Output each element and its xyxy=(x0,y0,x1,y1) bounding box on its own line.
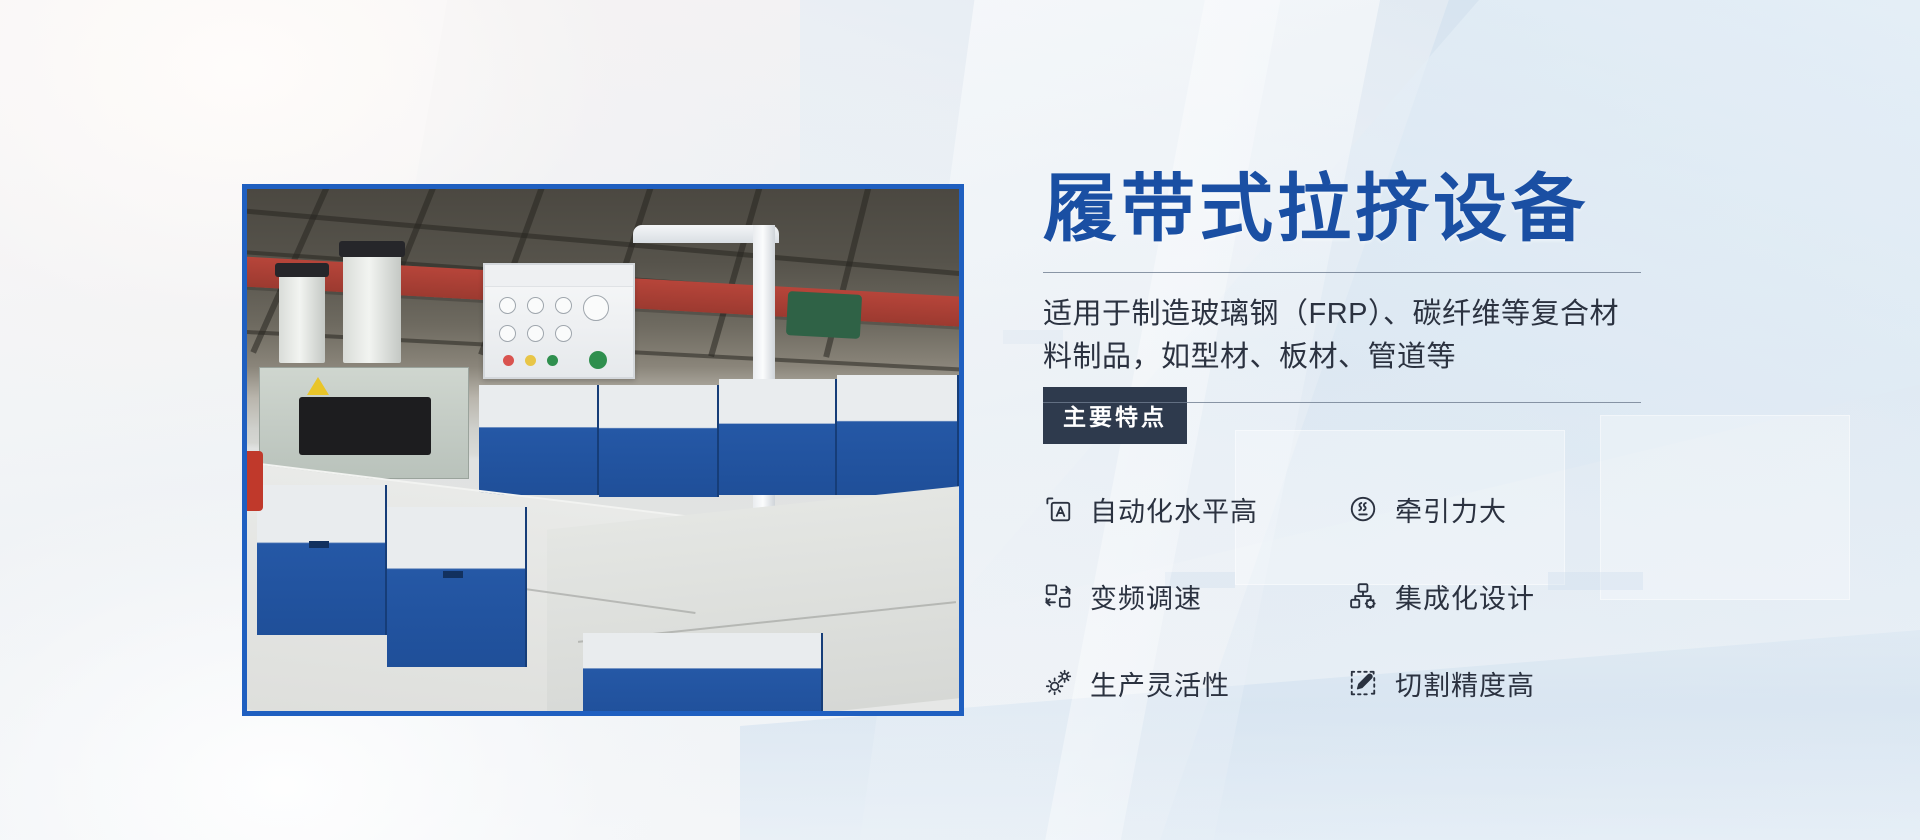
photo-cabinet-handle xyxy=(309,541,329,548)
photo-cabinet-handle xyxy=(443,571,463,578)
feature-label: 自动化水平高 xyxy=(1090,490,1258,529)
product-photo-image xyxy=(247,189,959,711)
photo-gauge xyxy=(555,325,572,342)
photo-gauge xyxy=(499,325,516,342)
divider-bottom xyxy=(1043,402,1641,403)
feature-list: 自动化水平高 牵引力大 xyxy=(1043,490,1663,703)
cut-precision-icon xyxy=(1348,668,1378,698)
feature-item-flexibility[interactable]: 生产灵活性 xyxy=(1043,664,1348,703)
photo-machine-window xyxy=(299,397,431,455)
product-description: 适用于制造玻璃钢（FRP）、碳纤维等复合材料制品，如型材、板材、管道等 xyxy=(1043,293,1643,380)
photo-fire-extinguisher xyxy=(243,451,263,511)
photo-indicator-lamp xyxy=(547,355,558,366)
feature-label: 变频调速 xyxy=(1090,577,1202,616)
photo-indicator-lamp xyxy=(503,355,514,366)
traction-icon xyxy=(1348,494,1378,524)
photo-indicator-lamp xyxy=(525,355,536,366)
product-banner: 履带式拉挤设备 适用于制造玻璃钢（FRP）、碳纤维等复合材料制品，如型材、板材、… xyxy=(0,0,1920,840)
features-badge: 主要特点 xyxy=(1043,387,1187,444)
product-photo[interactable] xyxy=(242,184,964,716)
feature-item-traction[interactable]: 牵引力大 xyxy=(1348,490,1653,529)
integration-icon xyxy=(1348,581,1378,611)
photo-tank-cap xyxy=(275,263,329,277)
photo-cabinet xyxy=(837,375,959,495)
frequency-icon xyxy=(1043,581,1073,611)
feature-label: 牵引力大 xyxy=(1395,490,1507,529)
photo-cabinet xyxy=(599,385,719,497)
photo-gauge xyxy=(527,297,544,314)
photo-gauge xyxy=(527,325,544,342)
feature-label: 切割精度高 xyxy=(1395,664,1535,703)
photo-start-button xyxy=(589,351,607,369)
photo-base-cabinet xyxy=(583,633,823,716)
feature-label: 集成化设计 xyxy=(1395,577,1535,616)
photo-crane-motor xyxy=(786,291,862,339)
feature-item-integration[interactable]: 集成化设计 xyxy=(1348,577,1653,616)
photo-cabinet xyxy=(719,379,837,495)
feature-item-frequency[interactable]: 变频调速 xyxy=(1043,577,1348,616)
photo-gauge xyxy=(555,297,572,314)
photo-gauge-large xyxy=(583,295,609,321)
photo-tank-cap xyxy=(339,241,405,257)
feature-item-automation[interactable]: 自动化水平高 xyxy=(1043,490,1348,529)
feature-label: 生产灵活性 xyxy=(1090,664,1230,703)
feature-item-cut-precision[interactable]: 切割精度高 xyxy=(1348,664,1653,703)
photo-cabinet xyxy=(479,385,599,495)
automation-icon xyxy=(1043,494,1073,524)
gears-icon xyxy=(1043,668,1073,698)
photo-control-panel-header xyxy=(485,265,633,287)
photo-resin-tank xyxy=(343,251,401,363)
banner-content: 履带式拉挤设备 适用于制造玻璃钢（FRP）、碳纤维等复合材料制品，如型材、板材、… xyxy=(1043,170,1663,703)
photo-gauge xyxy=(499,297,516,314)
photo-base-cabinet xyxy=(257,485,387,635)
page-title: 履带式拉挤设备 xyxy=(1043,170,1663,248)
divider-top xyxy=(1043,272,1641,273)
photo-base-cabinet xyxy=(387,507,527,667)
photo-resin-tank xyxy=(279,271,325,363)
photo-control-panel xyxy=(483,263,635,379)
